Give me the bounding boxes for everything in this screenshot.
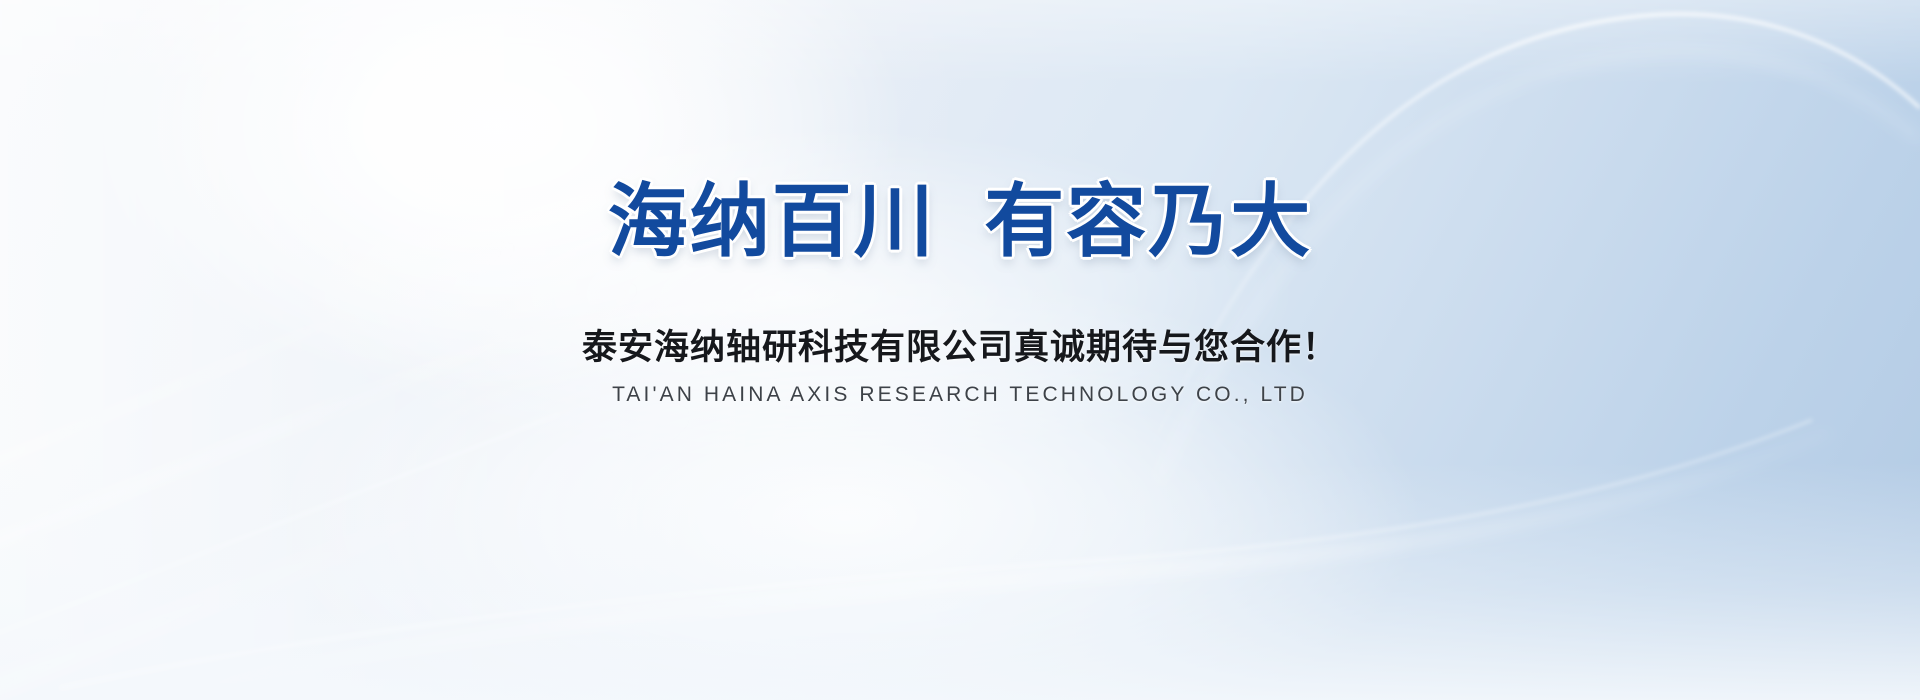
banner-headline: 海纳百川 有容乃大 (608, 182, 1312, 262)
banner-text-block: 海纳百川 有容乃大 泰安海纳轴研科技有限公司真诚期待与您合作！ TAI'AN H… (0, 0, 1920, 700)
hero-banner: 海纳百川 有容乃大 泰安海纳轴研科技有限公司真诚期待与您合作！ TAI'AN H… (0, 0, 1920, 700)
banner-subtitle-english: TAI'AN HAINA AXIS RESEARCH TECHNOLOGY CO… (612, 382, 1308, 407)
banner-subtitle-chinese: 泰安海纳轴研科技有限公司真诚期待与您合作！ (582, 328, 1338, 368)
